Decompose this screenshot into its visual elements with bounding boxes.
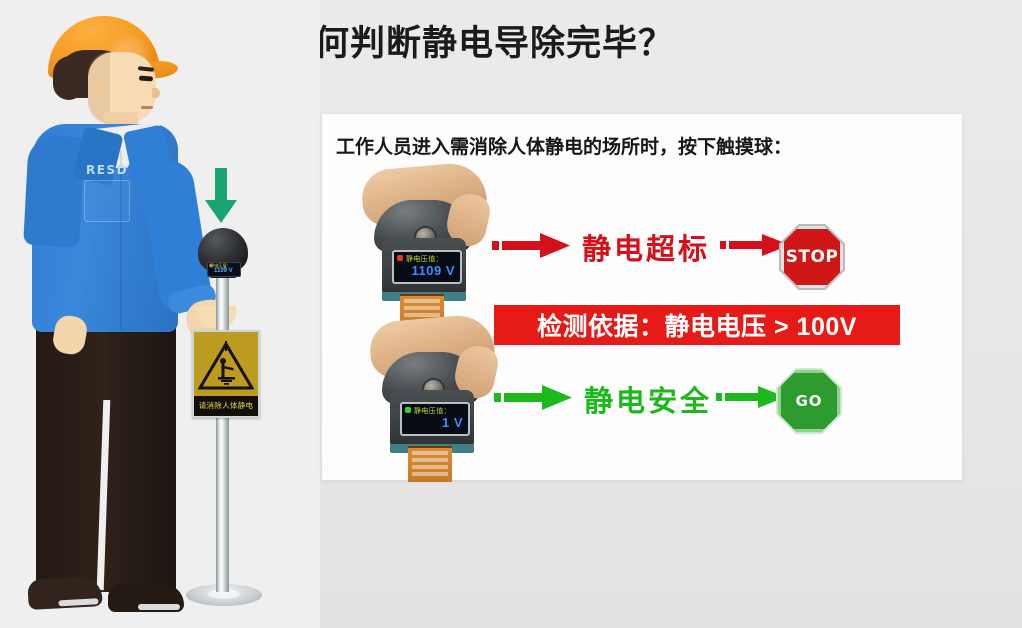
stop-sign-shell: STOP — [779, 224, 845, 290]
result-row-safe: 静电安全 — [494, 378, 786, 420]
press-down-arrow-icon — [204, 168, 238, 224]
go-sign: GO — [778, 370, 840, 432]
go-sign-label: GO — [795, 392, 822, 410]
hair-side-shape — [53, 56, 83, 100]
screen-indicator-dot-red — [397, 255, 403, 261]
stop-sign-label: STOP — [786, 247, 839, 267]
eye-shape — [139, 76, 153, 82]
ear-shape — [92, 82, 104, 98]
warning-sign: 请消除人体静电 — [192, 330, 260, 418]
right-shoe — [108, 584, 184, 612]
warning-sign-plate: 请消除人体静电 — [194, 332, 258, 416]
page-title: 如何判断静电导除完毕？ — [278, 20, 798, 68]
slide-canvas: 如何判断静电导除完毕？ RESD — [0, 0, 1022, 628]
mouth-shape — [141, 106, 153, 109]
result-text-over-limit: 静电超标 — [582, 226, 710, 268]
esd-pole — [216, 268, 229, 592]
go-sign-shell: GO — [776, 368, 842, 434]
result-text-safe: 静电安全 — [584, 378, 712, 420]
device-label-sticker-2 — [408, 446, 452, 482]
stop-sign: STOP — [781, 226, 843, 288]
arrow-right-icon-green-1 — [494, 384, 572, 415]
uniform-logo-text: RESD — [86, 163, 146, 177]
pole-screen-value: 1109 V — [214, 268, 233, 274]
screen-value-1: 1109 V — [412, 263, 456, 278]
criteria-banner: 检测依据：静电电压 > 100V — [494, 305, 900, 345]
panel-caption: 工作人员进入需消除人体静电的场所时，按下触摸球： — [336, 132, 936, 159]
esd-warning-triangle-icon — [198, 341, 254, 396]
device-photo-safe: 静电压值： 1 V — [364, 318, 496, 468]
left-shoulder — [23, 135, 85, 248]
screen-indicator-dot-green — [405, 407, 411, 413]
warning-sign-text: 请消除人体静电 — [194, 396, 258, 416]
screen-value-2: 1 V — [442, 415, 463, 430]
arrow-right-icon-red-1 — [492, 232, 570, 263]
pole-device-screen: 静电压值： 1109 V — [207, 262, 241, 277]
device-screen-over-limit: 静电压值： 1109 V — [392, 250, 462, 284]
left-shoe — [27, 576, 102, 610]
criteria-banner-text: 检测依据：静电电压 > 100V — [537, 307, 857, 343]
nose-shape — [152, 88, 160, 98]
arrow-right-icon-green-2 — [716, 385, 786, 414]
button-placket — [120, 150, 122, 330]
device-screen-safe: 静电压值： 1 V — [400, 402, 470, 436]
result-row-over-limit: 静电超标 — [492, 226, 790, 268]
chest-pocket — [84, 180, 130, 222]
worker-illustration: RESD 静电压值： 1109 V — [0, 0, 320, 628]
device-photo-over-limit: 静电压值： 1109 V — [356, 166, 488, 316]
